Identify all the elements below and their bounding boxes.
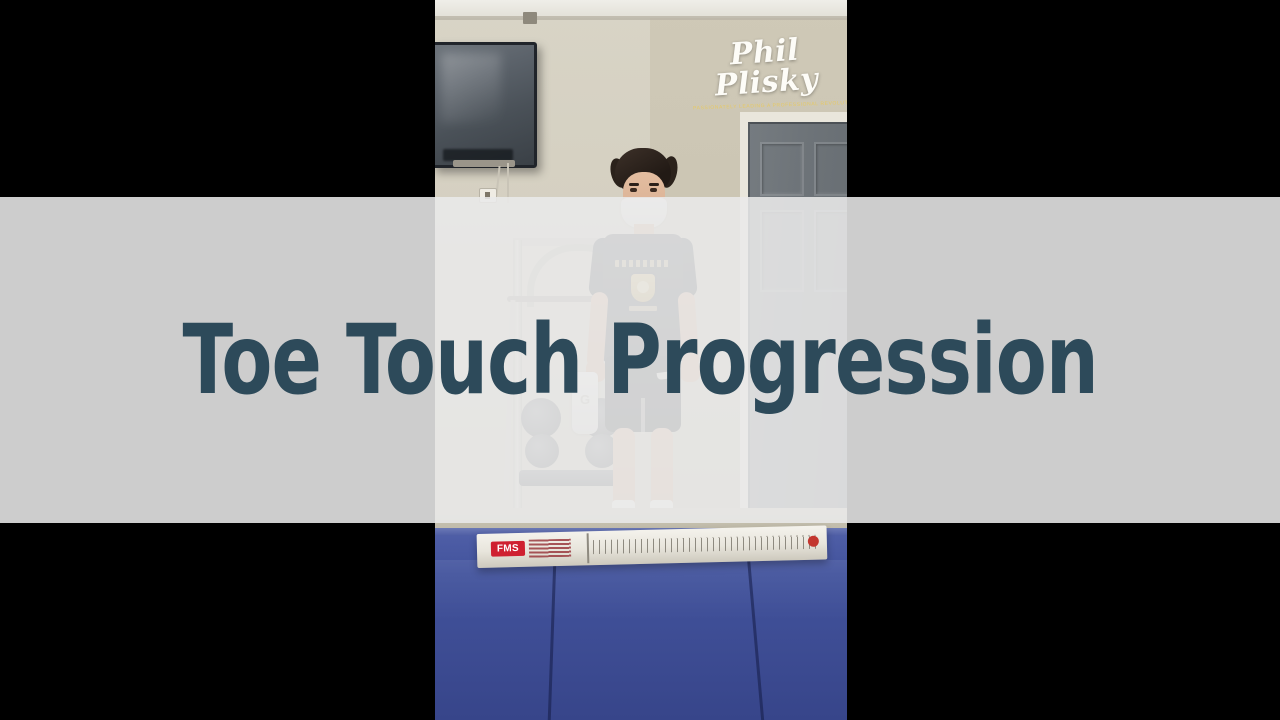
door-panel [814, 142, 847, 196]
title-banner: Toe Touch Progression [0, 197, 1280, 523]
fms-logo: FMS [491, 541, 525, 557]
tv-screen-glare [441, 53, 501, 123]
tv-shelf [453, 160, 515, 167]
board-end-cap [808, 536, 819, 547]
board-center-mark [587, 533, 590, 563]
mat-sheen [435, 560, 847, 620]
wall-mounted-tv [435, 42, 537, 168]
video-player-stage: FMS Phil Plisky Passionately leading a p… [0, 0, 1280, 720]
ceiling-mount-bracket [523, 12, 537, 24]
door-panel [760, 142, 804, 196]
board-measurement-ticks [593, 535, 817, 554]
fms-logo-wordmark [529, 539, 571, 558]
eye-left [630, 188, 637, 192]
fms-logo-text: FMS [497, 543, 519, 555]
eyebrow-left [629, 183, 639, 186]
ceiling-rail [435, 16, 847, 20]
eye-right [650, 188, 657, 192]
page-title: Toe Touch Progression [182, 312, 1097, 408]
eyebrow-right [649, 183, 659, 186]
